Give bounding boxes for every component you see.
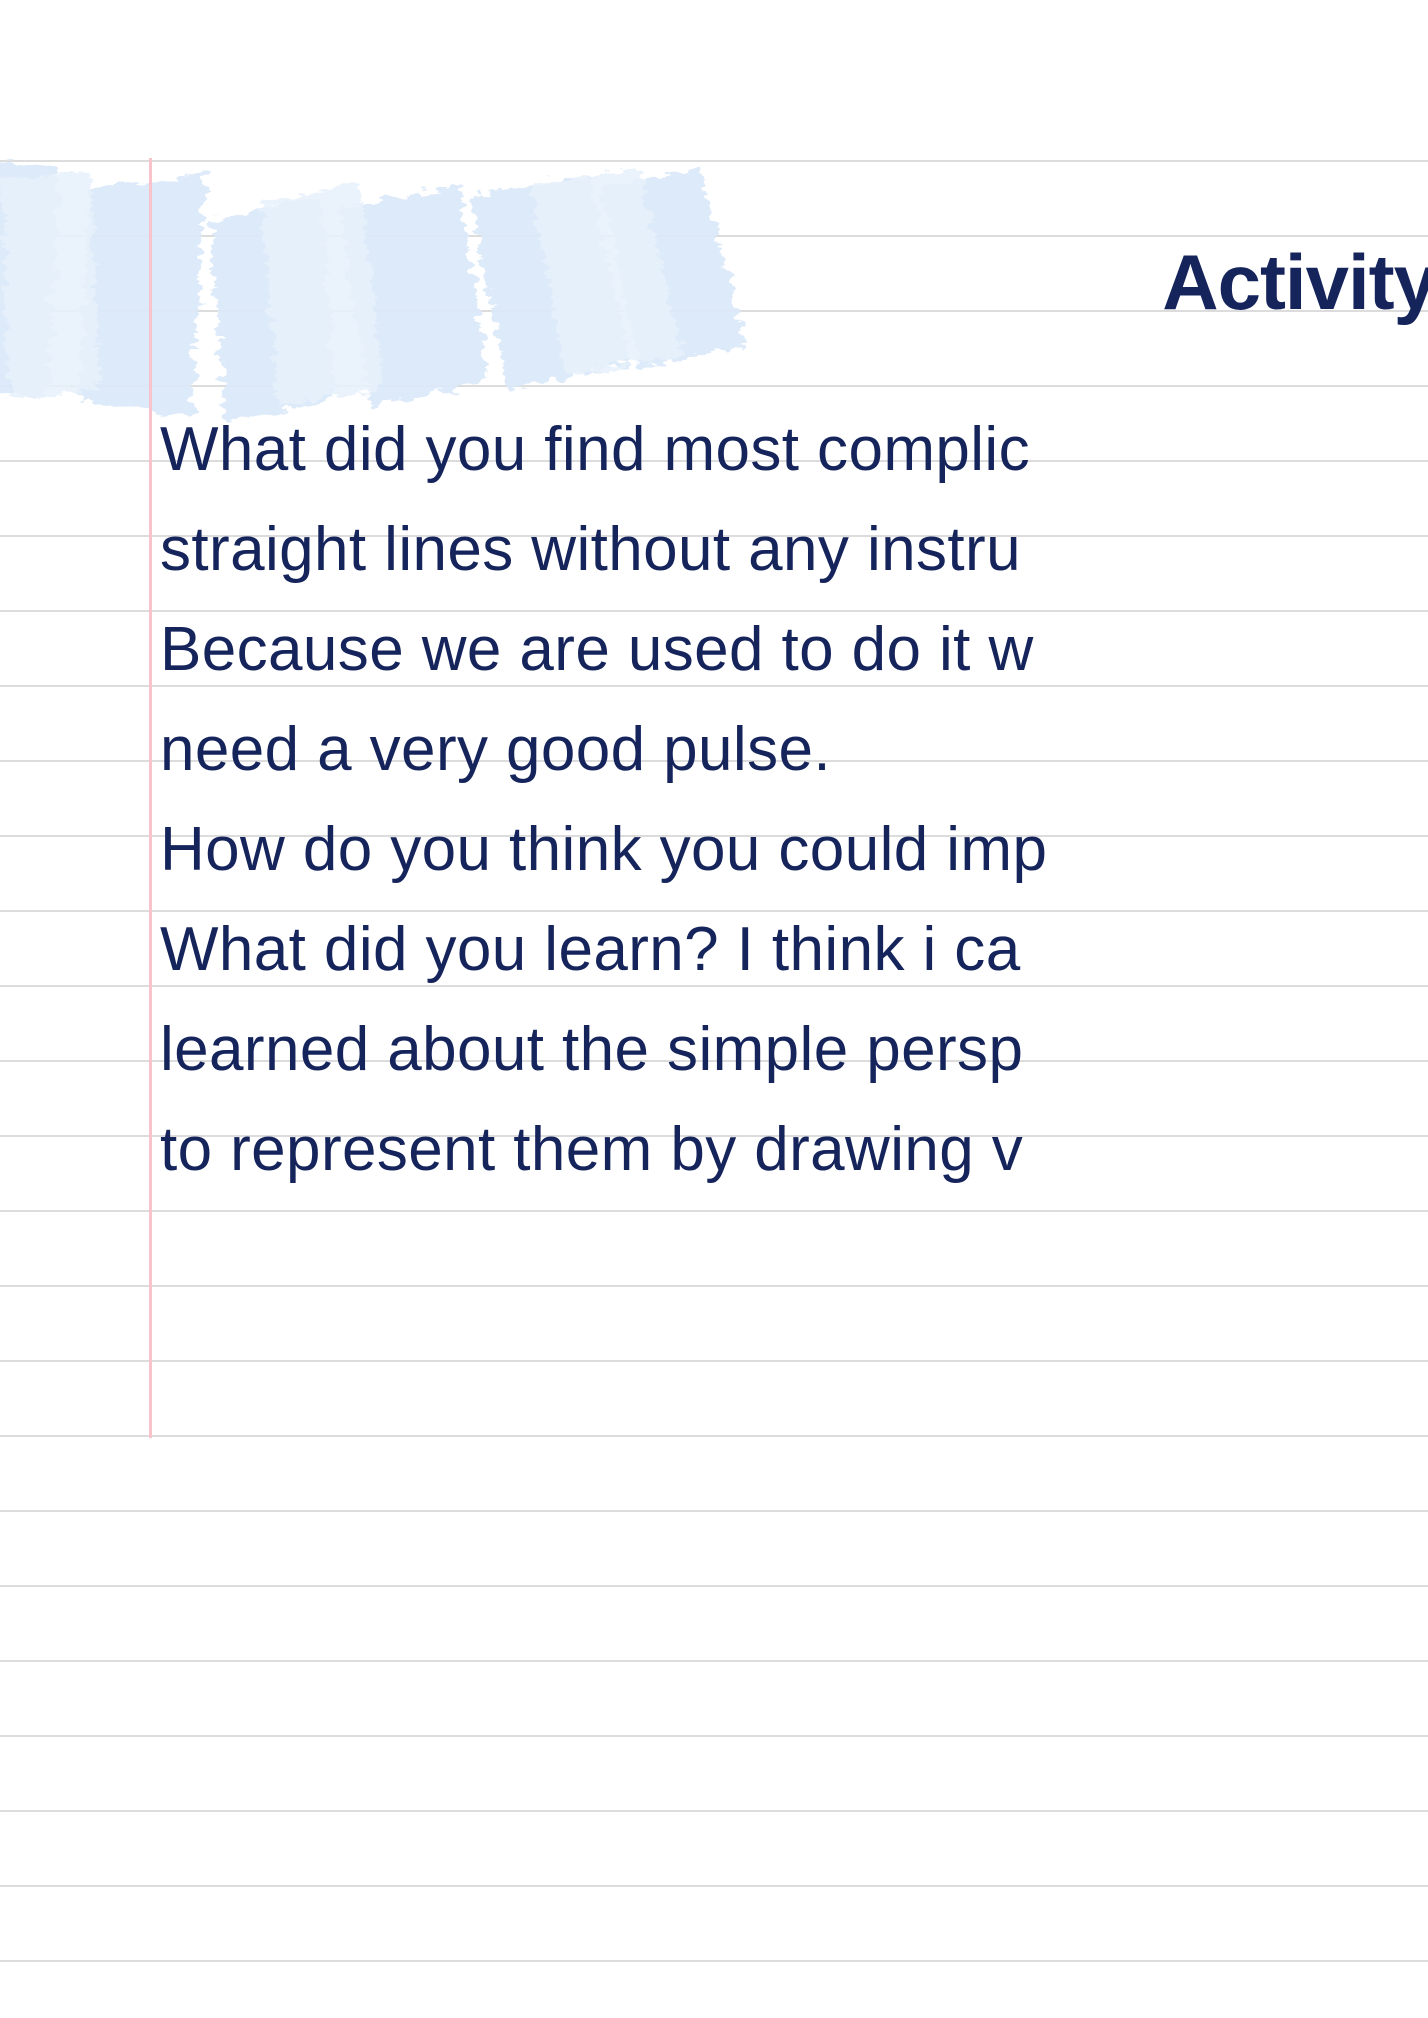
rule-line xyxy=(0,1510,1428,1512)
rule-line xyxy=(0,1585,1428,1587)
rule-line xyxy=(0,235,1428,237)
rule-line xyxy=(0,160,1428,162)
rule-line xyxy=(0,385,1428,387)
text-line: How do you think you could imp xyxy=(160,800,1428,900)
rule-line xyxy=(0,1885,1428,1887)
text-line: to represent them by drawing v xyxy=(160,1100,1428,1200)
worksheet-page: Activity What did you find most complics… xyxy=(0,0,1428,2018)
rule-line xyxy=(0,1810,1428,1812)
rule-line xyxy=(0,1360,1428,1362)
rule-line xyxy=(0,1435,1428,1437)
rule-line xyxy=(0,1285,1428,1287)
text-line: learned about the simple persp xyxy=(160,1000,1428,1100)
rule-line xyxy=(0,1660,1428,1662)
text-line: What did you find most complic xyxy=(160,400,1428,500)
rule-line xyxy=(0,1210,1428,1212)
text-line: Because we are used to do it w xyxy=(160,600,1428,700)
page-title: Activity xyxy=(1162,243,1428,321)
text-line: need a very good pulse. xyxy=(160,700,1428,800)
rule-line xyxy=(0,1960,1428,1962)
rule-line xyxy=(0,1735,1428,1737)
text-line: What did you learn? I think i ca xyxy=(160,900,1428,1000)
pink-vertical-margin-rule xyxy=(149,158,152,1438)
text-line: straight lines without any instru xyxy=(160,500,1428,600)
handwritten-answer-text: What did you find most complicstraight l… xyxy=(160,400,1428,1200)
